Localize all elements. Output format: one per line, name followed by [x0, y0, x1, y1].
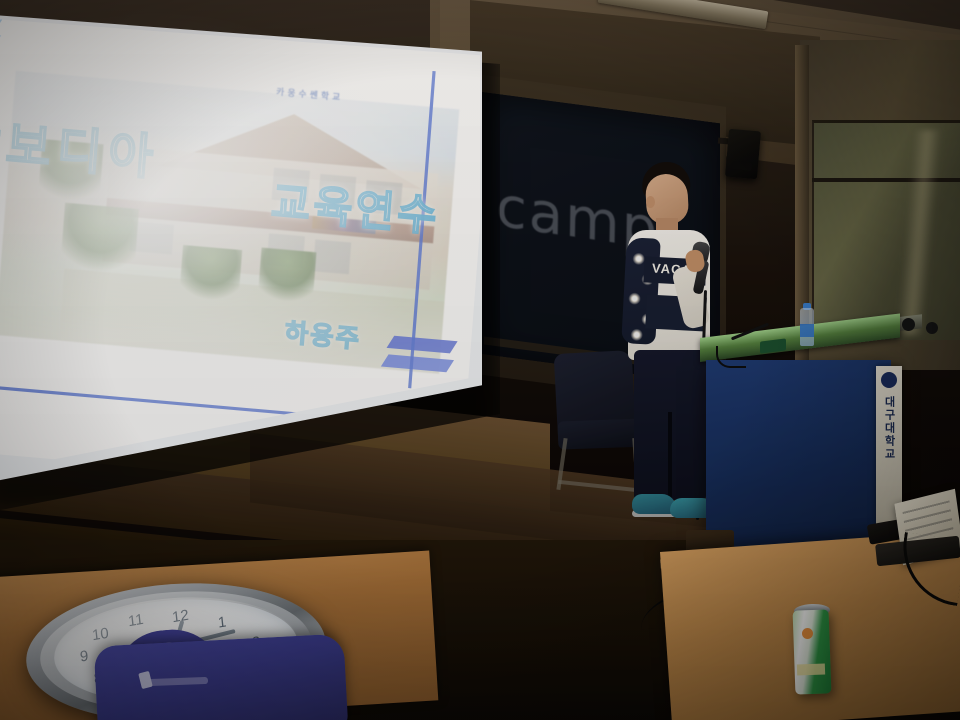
- clock-numeral: 10: [91, 625, 109, 645]
- water-bottle-label: [800, 324, 814, 337]
- podium-banner-text: 대구대학교: [878, 396, 900, 461]
- can-label-stripe: [797, 664, 825, 676]
- photo-window: [313, 239, 351, 274]
- clock-numeral: 11: [127, 611, 144, 631]
- podium-knob: [926, 322, 938, 334]
- podium-cable: [716, 346, 746, 368]
- photo-palm-tree: [179, 245, 243, 309]
- slide-decoration-bar: [0, 29, 1, 49]
- podium-knob: [902, 318, 915, 331]
- clock-numeral: 1: [217, 613, 227, 631]
- purple-bag: [94, 634, 349, 720]
- slide-presenter-name: 하용주: [284, 311, 363, 355]
- can-label-fruit-icon: [802, 628, 813, 639]
- presenter-leg-gap: [668, 412, 672, 502]
- beverage-can: [793, 609, 832, 694]
- clock-numeral: 9: [79, 647, 89, 665]
- photo-building-sign: 카 웅 수 쎈 학 교: [266, 82, 350, 108]
- photo-palm-tree: [59, 203, 139, 283]
- photo-palm-tree: [257, 248, 316, 312]
- university-logo: [881, 372, 897, 388]
- window-mullion: [812, 178, 960, 182]
- lecture-hall-photo: camp 카 웅 수 쎈 학 교: [0, 0, 960, 720]
- presenter-ear: [646, 196, 655, 208]
